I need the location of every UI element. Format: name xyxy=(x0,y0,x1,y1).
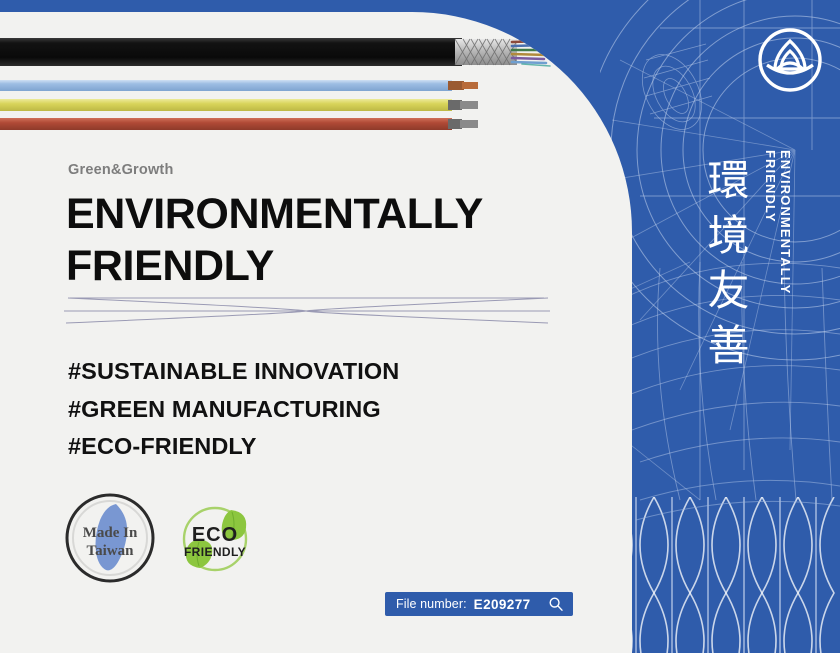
file-number-label: File number: xyxy=(396,597,467,611)
cable-illustration xyxy=(0,30,560,135)
decorative-divider xyxy=(62,292,552,326)
headline-line-1: ENVIRONMENTALLY xyxy=(66,188,586,240)
hashtag-item: #GREEN MANUFACTURING xyxy=(68,391,399,429)
hashtag-item: #ECO-FRIENDLY xyxy=(68,428,399,466)
page-title: ENVIRONMENTALLY FRIENDLY xyxy=(66,188,586,292)
company-logo-icon xyxy=(757,27,823,98)
hashtag-list: #SUSTAINABLE INNOVATION #GREEN MANUFACTU… xyxy=(68,353,399,466)
file-number-value: E209277 xyxy=(474,597,531,612)
headline-line-2: FRIENDLY xyxy=(66,240,586,292)
file-number-bar[interactable]: File number: E209277 xyxy=(385,592,573,616)
content-card: Green&Growth ENVIRONMENTALLY FRIENDLY #S… xyxy=(0,12,632,653)
eco-badge-line-1: ECO xyxy=(192,524,238,546)
poster-canvas: 環境友善 ENVIRONMENTALLY FRIENDLY xyxy=(0,0,840,653)
made-in-taiwan-badge: Made In Taiwan xyxy=(64,492,156,589)
english-vertical-title: ENVIRONMENTALLY FRIENDLY xyxy=(763,150,793,294)
magnifier-icon[interactable] xyxy=(548,596,564,612)
made-in-taiwan-line-1: Made In xyxy=(83,525,138,541)
made-in-taiwan-line-2: Taiwan xyxy=(87,543,135,559)
eyebrow-text: Green&Growth xyxy=(68,162,174,178)
chinese-vertical-title: 環境友善 xyxy=(703,158,753,378)
hashtag-item: #SUSTAINABLE INNOVATION xyxy=(68,353,399,391)
eco-badge-line-2: FRIENDLY xyxy=(184,545,246,559)
eco-friendly-badge: ECO FRIENDLY xyxy=(176,500,254,583)
